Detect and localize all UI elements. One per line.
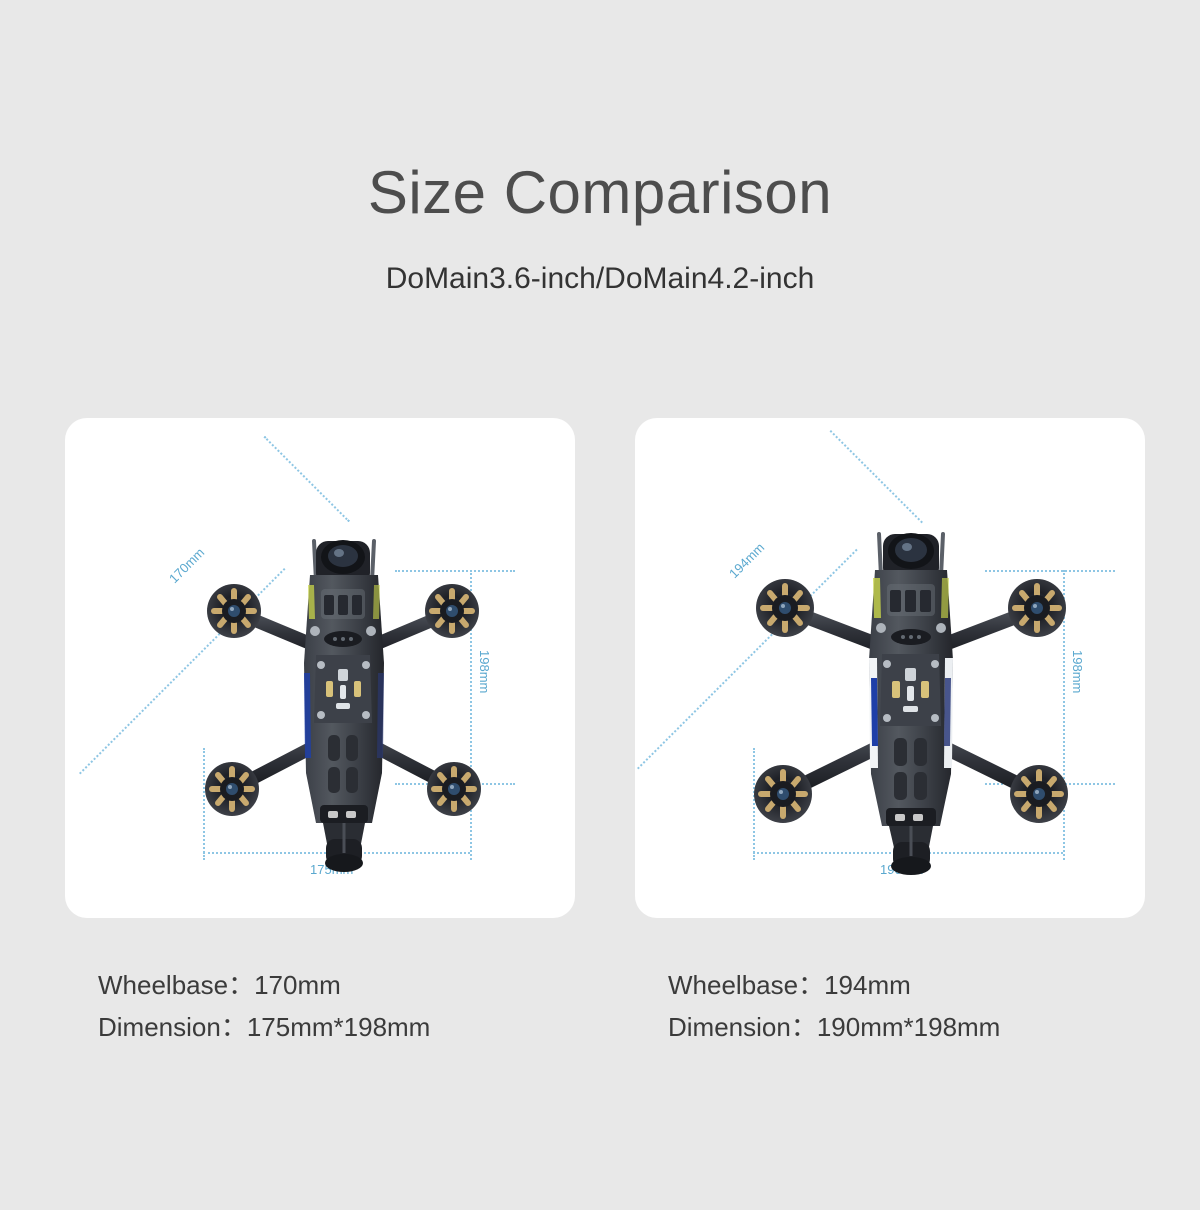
motor-rear-left <box>205 762 259 816</box>
motor-front-right <box>425 584 479 638</box>
product-card-domain-3-6-inch: 170mm 198mm 175mm <box>65 418 575 918</box>
dimension-label-right: Dimension： <box>668 1012 817 1042</box>
wheelbase-row-left: Wheelbase：170mm <box>98 964 430 1006</box>
drone-illustration-domain-4-2-inch <box>743 518 1079 878</box>
page-subtitle: DoMain3.6-inch/DoMain4.2-inch <box>0 262 1200 296</box>
diagonal-dimension-line-left-upper <box>264 436 350 522</box>
motor-front-left <box>756 579 814 637</box>
dimension-row-left: Dimension：175mm*198mm <box>98 1006 430 1048</box>
wheelbase-label-right: Wheelbase： <box>668 970 824 1000</box>
diagonal-dimension-line-right-upper <box>830 430 923 523</box>
wheelbase-row-right: Wheelbase：194mm <box>668 964 1000 1006</box>
card-stage-left: 170mm 198mm 175mm <box>65 418 575 918</box>
wheelbase-label-left: Wheelbase： <box>98 970 254 1000</box>
dimension-row-right: Dimension：190mm*198mm <box>668 1006 1000 1048</box>
size-comparison-page: Size Comparison DoMain3.6-inch/DoMain4.2… <box>0 0 1200 1210</box>
wheelbase-value-left: 170mm <box>254 970 341 1000</box>
dimension-value-left: 175mm*198mm <box>247 1012 431 1042</box>
wheelbase-value-right: 194mm <box>824 970 911 1000</box>
dimension-label-left: Dimension： <box>98 1012 247 1042</box>
motor-front-right <box>1008 579 1066 637</box>
caption-domain-4-2-inch: Wheelbase：194mm Dimension：190mm*198mm <box>668 964 1000 1048</box>
motor-front-left <box>207 584 261 638</box>
card-stage-right: 194mm 198mm 190mm <box>635 418 1145 918</box>
product-card-domain-4-2-inch: 194mm 198mm 190mm <box>635 418 1145 918</box>
motor-rear-right <box>427 762 481 816</box>
page-title: Size Comparison <box>0 158 1200 227</box>
motor-rear-right <box>1010 765 1068 823</box>
drone-illustration-domain-3-6-inch <box>190 523 490 873</box>
caption-domain-3-6-inch: Wheelbase：170mm Dimension：175mm*198mm <box>98 964 430 1048</box>
dimension-value-right: 190mm*198mm <box>817 1012 1001 1042</box>
motor-rear-left <box>754 765 812 823</box>
